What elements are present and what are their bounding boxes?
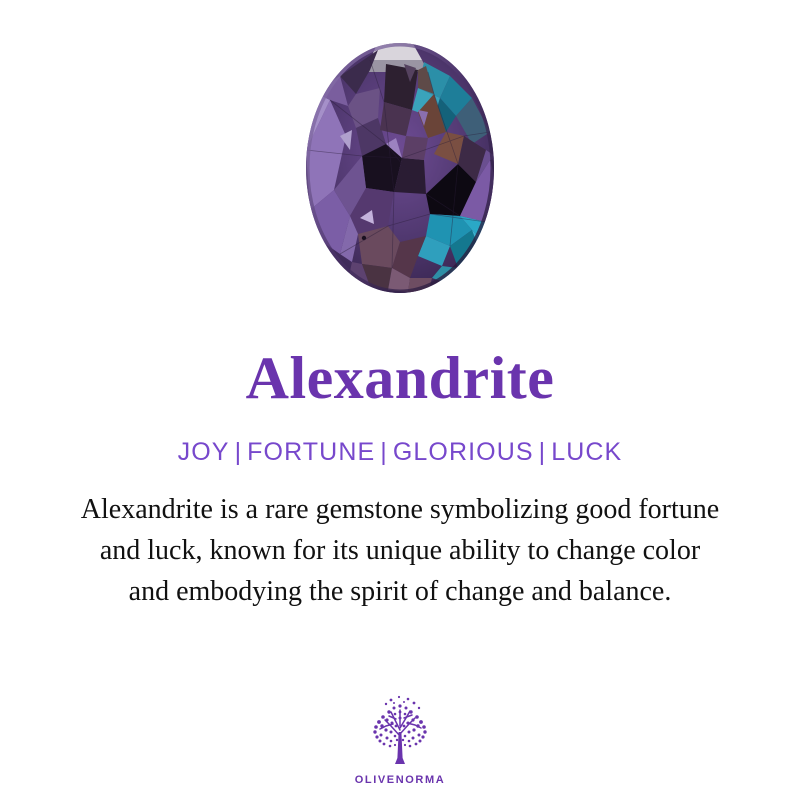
description-line-1: Alexandrite is a rare gemstone symbolizi… <box>20 489 780 530</box>
keyword-separator: | <box>375 438 393 466</box>
keyword-separator: | <box>534 438 552 466</box>
description-line-3: and embodying the spirit of change and b… <box>20 571 780 612</box>
keyword-separator: | <box>230 438 248 466</box>
alexandrite-gemstone-image <box>300 40 500 296</box>
keyword-joy: JOY <box>178 438 230 466</box>
gemstone-title: Alexandrite <box>246 348 555 408</box>
keyword-luck: LUCK <box>551 438 622 466</box>
gemstone-keywords: JOY|FORTUNE|GLORIOUS|LUCK <box>178 438 623 467</box>
brand-logo: OLIVENORMA <box>0 692 800 786</box>
brand-wordmark: OLIVENORMA <box>355 774 446 786</box>
tree-of-life-icon <box>361 692 439 772</box>
keyword-fortune: FORTUNE <box>247 438 375 466</box>
gemstone-info-card: Alexandrite JOY|FORTUNE|GLORIOUS|LUCK Al… <box>0 0 800 800</box>
gem-facets <box>300 40 500 296</box>
gemstone-image-container <box>0 0 800 300</box>
gemstone-description: Alexandrite is a rare gemstone symbolizi… <box>20 489 780 612</box>
keyword-glorious: GLORIOUS <box>393 438 534 466</box>
description-line-2: and luck, known for its unique ability t… <box>20 530 780 571</box>
